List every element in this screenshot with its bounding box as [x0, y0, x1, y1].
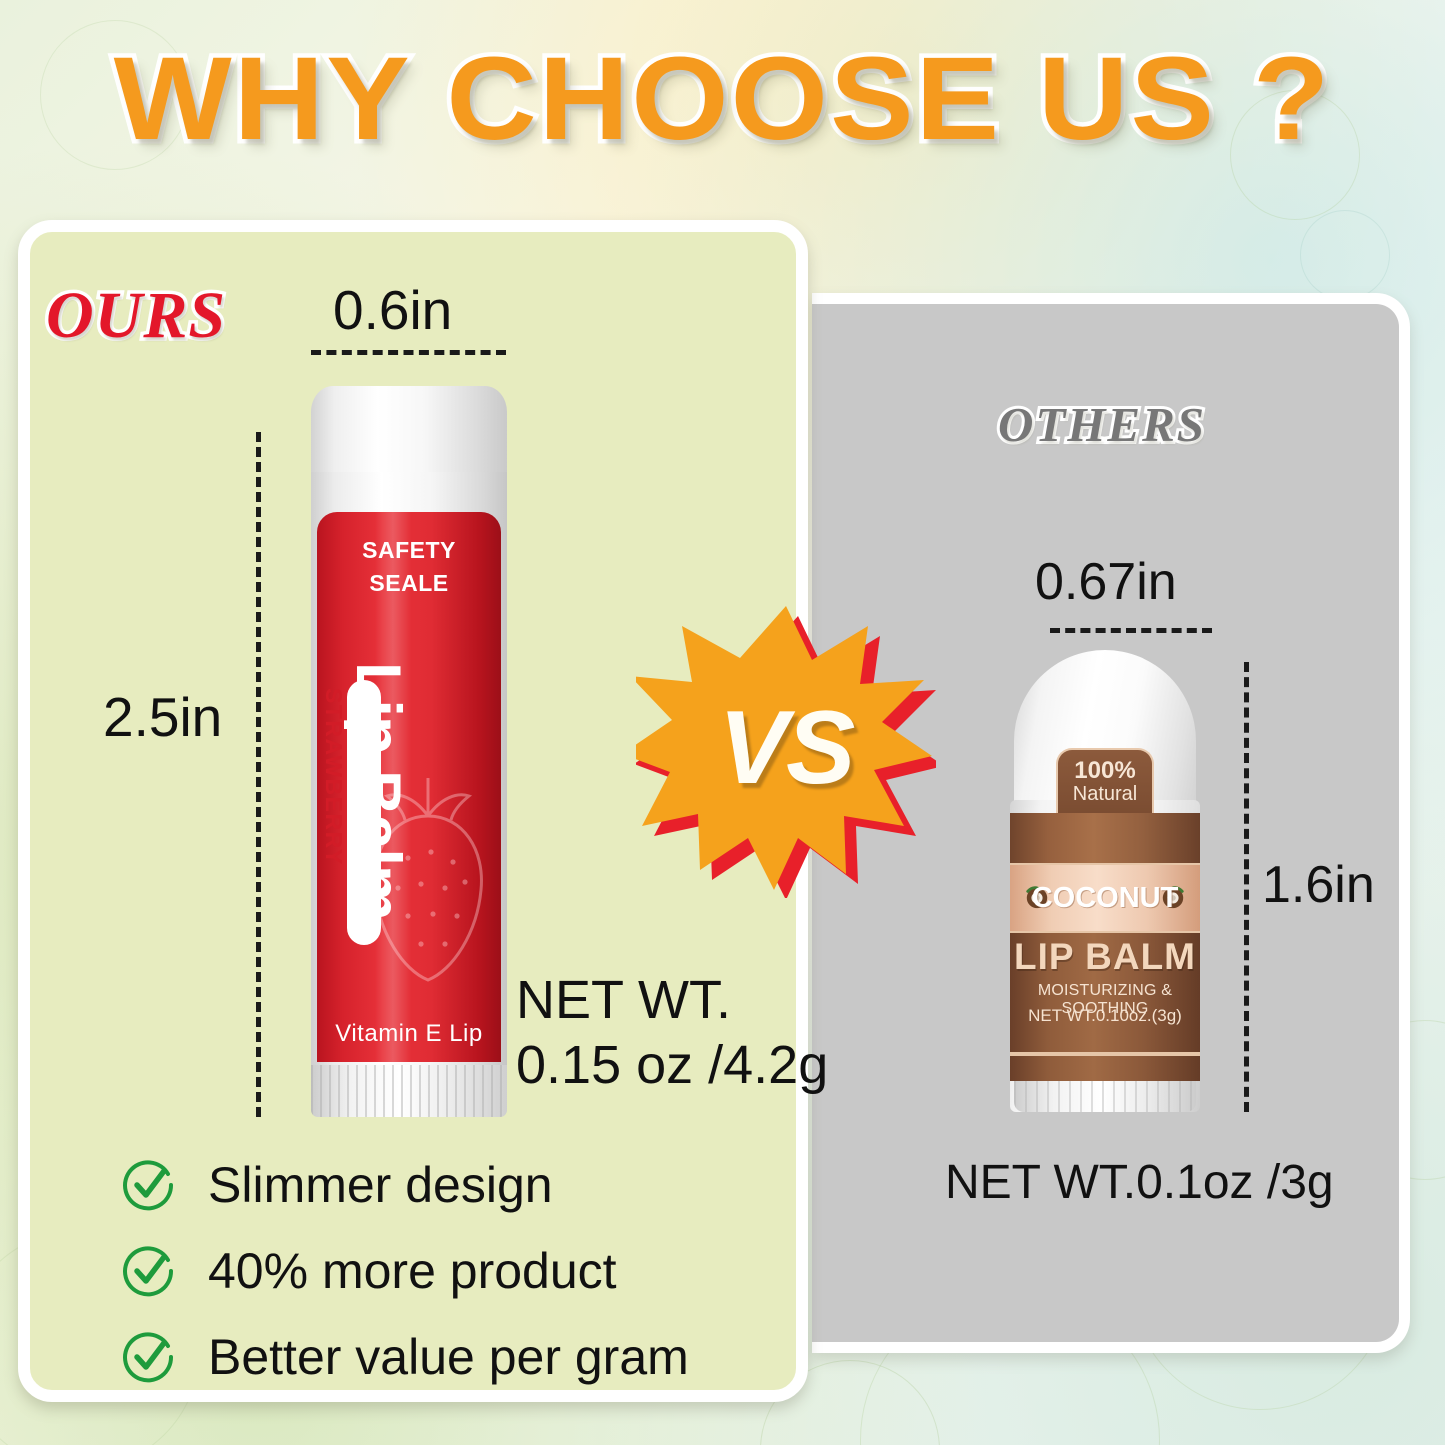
ours-product-tube: SAFETY SEALE STRAWBERRY Lip Balm Vitamin… — [311, 386, 507, 1117]
check-circle-icon — [122, 1245, 174, 1297]
ours-width-dashed-line — [311, 350, 506, 355]
others-product-name: LIP BALM — [1010, 936, 1200, 978]
ours-heading: OURS — [46, 278, 226, 354]
list-item: 40% more product — [122, 1228, 782, 1314]
ours-net-weight-line2: 0.15 oz /4.2g — [516, 1033, 828, 1098]
others-natural-badge: 100% Natural — [1056, 748, 1154, 818]
ours-product-name: Lip Balm — [343, 662, 413, 1052]
ours-benefit-list: Slimmer design 40% more product Better v… — [122, 1142, 782, 1400]
ours-net-weight: NET WT. 0.15 oz /4.2g — [516, 968, 828, 1098]
ours-product-footer: Vitamin E Lip — [317, 1020, 501, 1048]
benefit-label: Better value per gram — [208, 1328, 689, 1386]
ours-height-dimension: 2.5in — [103, 685, 222, 749]
infographic-canvas: WHY CHOOSE US ? OURS 0.6in 2.5in — [0, 0, 1445, 1445]
others-label-top-band — [1010, 813, 1200, 865]
check-circle-icon — [122, 1159, 174, 1211]
ours-width-dimension: 0.6in — [333, 278, 452, 342]
others-height-dashed-line — [1244, 662, 1249, 1112]
ours-height-dashed-line — [256, 432, 261, 1117]
list-item: Slimmer design — [122, 1142, 782, 1228]
others-label-bottom-rule — [1010, 1052, 1200, 1056]
benefit-label: Slimmer design — [208, 1156, 553, 1214]
page-title: WHY CHOOSE US ? — [0, 38, 1445, 162]
check-circle-icon — [122, 1331, 174, 1383]
benefit-label: 40% more product — [208, 1242, 617, 1300]
ours-net-weight-line1: NET WT. — [516, 968, 828, 1033]
others-net-weight: NET WT.0.1oz /3g — [945, 1155, 1334, 1210]
ours-tube-base — [311, 1065, 507, 1117]
others-width-dashed-line — [1050, 628, 1212, 633]
others-width-dimension: 0.67in — [1035, 552, 1177, 612]
ours-tube-label: SAFETY SEALE STRAWBERRY Lip Balm Vitamin… — [317, 512, 501, 1062]
others-heading: OTHERS — [998, 396, 1206, 453]
list-item: Better value per gram — [122, 1314, 782, 1400]
safety-seal-line2: SEALE — [369, 570, 448, 596]
others-flavor-text: COCONUT — [1010, 882, 1200, 915]
vs-starburst-icon — [636, 598, 936, 898]
others-product-tube: 100% Natural COCONUT LIP BALM MOISTURIZI… — [1010, 650, 1200, 1112]
others-label-net-weight: NET WT.0.10oz.(3g) — [1010, 1006, 1200, 1026]
safety-seal-line1: SAFETY — [362, 537, 456, 563]
others-height-dimension: 1.6in — [1262, 855, 1375, 915]
badge-percent: 100% — [1058, 758, 1152, 784]
ours-safety-seal-text: SAFETY SEALE — [317, 534, 501, 601]
badge-natural-word: Natural — [1058, 784, 1152, 806]
